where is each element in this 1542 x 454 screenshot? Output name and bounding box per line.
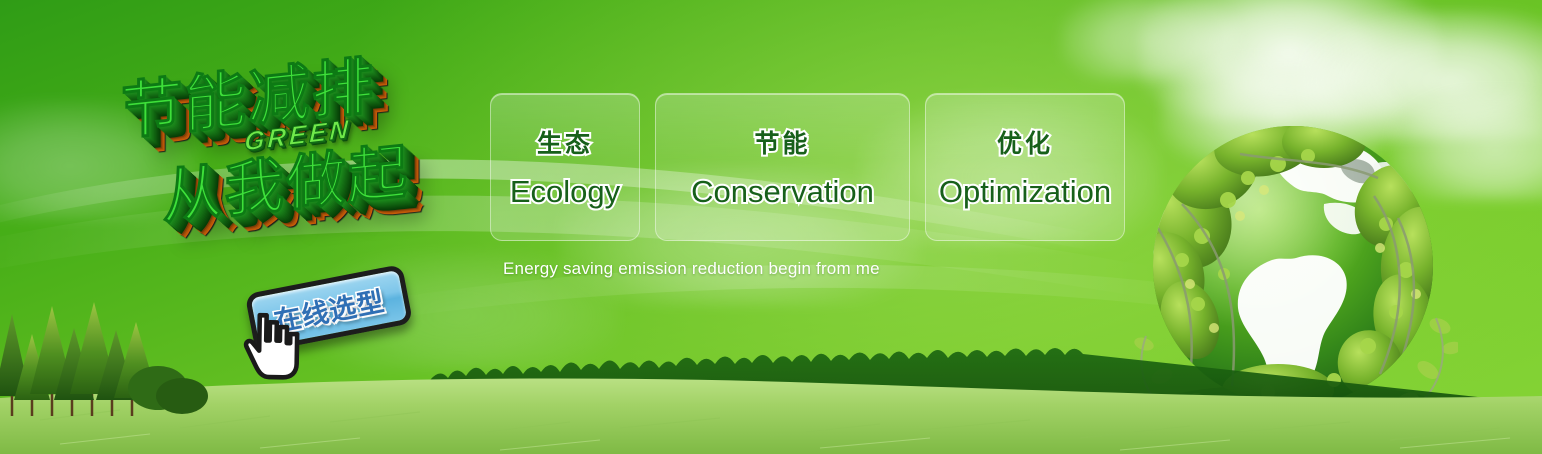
feature-card-en-label: Optimization [939, 174, 1111, 210]
feature-card-conservation[interactable]: 节能 Conservation [655, 93, 910, 241]
grass-field-icon [0, 324, 1542, 454]
feature-card-cn-label: 节能 [754, 124, 810, 160]
headline-3d-art: 节能减排 GREEN 从我做起 [96, 38, 488, 270]
feature-card-optimization[interactable]: 优化 Optimization [925, 93, 1125, 241]
feature-card-cn-label: 优化 [997, 124, 1053, 160]
feature-card-ecology[interactable]: 生态 Ecology [490, 93, 640, 241]
feature-card-en-label: Conservation [691, 174, 874, 210]
banner-tagline: Energy saving emission reduction begin f… [503, 259, 880, 279]
conifer-trees-icon [0, 300, 210, 418]
feature-card-list: 生态 Ecology 节能 Conservation 优化 Optimizati… [490, 93, 1125, 241]
feature-card-cn-label: 生态 [537, 124, 593, 160]
eco-banner: 节能减排 GREEN 从我做起 在线选型 生态 Ecology 节能 Conse… [0, 0, 1542, 454]
feature-card-en-label: Ecology [510, 174, 620, 210]
